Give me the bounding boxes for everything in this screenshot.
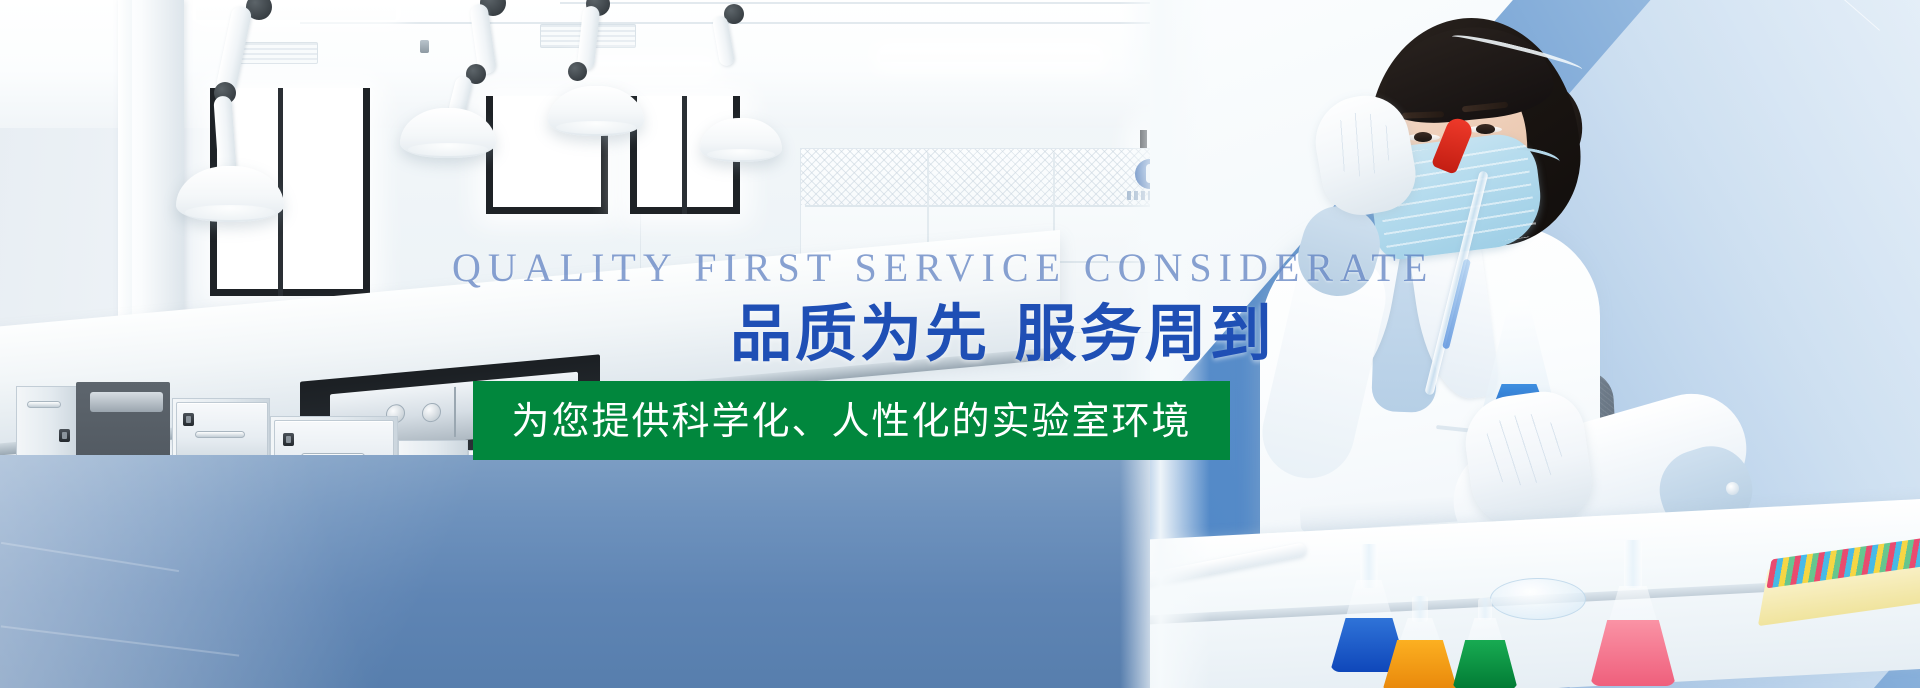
- subtitle-chinese: 为您提供科学化、人性化的实验室环境: [511, 400, 1191, 442]
- subtitle-band: 为您提供科学化、人性化的实验室环境: [473, 381, 1230, 460]
- text-overlay: QUALITY FIRST SERVICE CONSIDERATE 品质为先 服…: [0, 0, 1920, 688]
- tagline-english: QUALITY FIRST SERVICE CONSIDERATE: [452, 248, 1434, 288]
- hero-banner: QUALITY FIRST SERVICE CONSIDERATE 品质为先 服…: [0, 0, 1920, 688]
- headline-chinese: 品质为先 服务周到: [730, 298, 1275, 370]
